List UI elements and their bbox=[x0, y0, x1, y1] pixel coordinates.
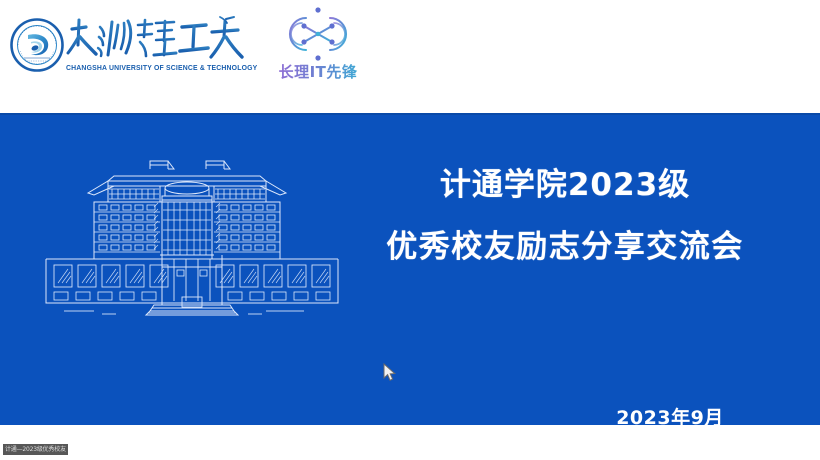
page-title-line-2: 优秀校友励志分享交流会 bbox=[330, 225, 800, 269]
svg-text:长理IT先锋: 长理IT先锋 bbox=[279, 63, 358, 81]
campus-building-illustration bbox=[42, 155, 342, 320]
university-seal-icon bbox=[10, 18, 64, 72]
university-logo-lockup: CHANGSHA UNIVERSITY OF SCIENCE & TECHNOL… bbox=[8, 13, 248, 79]
slide-main-panel: 计通学院2023级 优秀校友励志分享交流会 2023年9月 bbox=[0, 113, 820, 425]
corner-watermark-label: 计通—2023级优秀校友 bbox=[3, 444, 68, 455]
panel-top-divider bbox=[0, 113, 820, 115]
page-title-line-1: 计通学院2023级 bbox=[330, 163, 800, 207]
it-pioneer-wordmark: 长理IT先锋 bbox=[262, 60, 374, 84]
slide-title-block: 计通学院2023级 优秀校友励志分享交流会 bbox=[330, 163, 800, 269]
slide-footer-band bbox=[0, 425, 820, 460]
infinity-circuit-icon bbox=[268, 6, 368, 62]
it-pioneer-logo-lockup: 长理IT先锋 bbox=[262, 6, 374, 84]
slide-header-band: CHANGSHA UNIVERSITY OF SCIENCE & TECHNOL… bbox=[0, 0, 820, 113]
presentation-slide: CHANGSHA UNIVERSITY OF SCIENCE & TECHNOL… bbox=[0, 0, 820, 460]
university-name-cn bbox=[66, 15, 248, 63]
university-name-en: CHANGSHA UNIVERSITY OF SCIENCE & TECHNOL… bbox=[66, 64, 241, 72]
